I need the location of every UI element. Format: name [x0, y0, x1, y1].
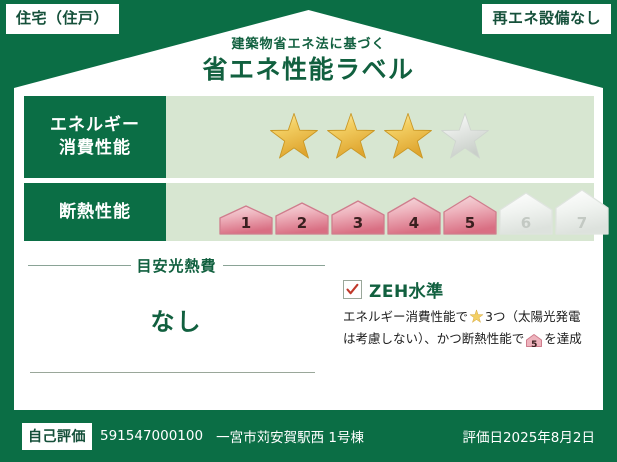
insulation-level-number: 7 [555, 214, 609, 232]
check-icon [346, 283, 359, 296]
label-content: エネルギー 消費性能 断熱性能 1234567 目安光熱費 [24, 96, 594, 397]
insulation-level-6: 6 [499, 192, 553, 235]
energy-performance-label: 住宅（住戸） 再エネ設備なし 建築物省エネ法に基づく 省エネ性能ラベル エネルギ… [0, 0, 617, 462]
energy-performance-value [166, 96, 594, 178]
rule-left [28, 265, 131, 266]
insulation-performance-row: 断熱性能 1234567 [24, 183, 594, 241]
label-heading: 建築物省エネ法に基づく 省エネ性能ラベル [0, 38, 617, 86]
star-filled-icon [469, 309, 484, 324]
energy-performance-label: エネルギー 消費性能 [24, 96, 166, 178]
zeh-checkbox[interactable] [343, 280, 362, 299]
renewable-equipment-tag: 再エネ設備なし [482, 4, 611, 34]
insulation-level-4: 4 [387, 197, 441, 235]
insulation-level-number: 4 [387, 214, 441, 232]
utility-cost-value: なし [24, 302, 329, 337]
zeh-title: ZEH水準 [369, 277, 444, 302]
insulation-level-number: 5 [443, 214, 497, 232]
evaluation-date: 評価日2025年8月2日 [462, 426, 595, 446]
star-empty-icon [437, 109, 493, 165]
utility-cost-title: 目安光熱費 [137, 255, 217, 276]
insulation-performance-label-text: 断熱性能 [59, 201, 131, 224]
inline-star-icon [469, 312, 484, 327]
utility-cost-divider [30, 372, 315, 373]
energy-performance-row: エネルギー 消費性能 [24, 96, 594, 178]
rule-right [223, 265, 326, 266]
property-address: 一宮市苅安賀駅西 1号棟 [216, 426, 364, 446]
insulation-level-scale: 1234567 [219, 189, 609, 235]
energy-performance-label-line1: エネルギー [50, 114, 140, 137]
heading-subtitle: 建築物省エネ法に基づく [0, 38, 617, 52]
insulation-level-5: 5 [443, 195, 497, 235]
evaluation-type-badge: 自己評価 [22, 423, 92, 450]
insulation-level-number: 6 [499, 214, 553, 232]
page-title: 省エネ性能ラベル [0, 54, 617, 85]
utility-cost-panel: 目安光熱費 なし [24, 247, 329, 397]
star-filled-icon [323, 109, 379, 165]
star-filled-icon [266, 109, 322, 165]
zeh-panel: ZEH水準 エネルギー消費性能で3つ（太陽光発電は考慮しない）、かつ断熱性能で5… [329, 247, 594, 397]
star-filled-icon [380, 109, 436, 165]
zeh-desc-prefix: エネルギー消費性能で [343, 309, 468, 324]
building-type-tag: 住宅（住戸） [6, 4, 119, 34]
insulation-level-number: 3 [331, 214, 385, 232]
insulation-performance-label: 断熱性能 [24, 183, 166, 241]
insulation-level-1: 1 [219, 205, 273, 235]
insulation-level-3: 3 [331, 200, 385, 235]
label-id: 591547000100 [100, 428, 203, 444]
insulation-level-number: 2 [275, 214, 329, 232]
utility-cost-title-row: 目安光熱費 [24, 255, 329, 276]
inline-house-level: 5 [526, 339, 542, 353]
zeh-desc-suffix: を達成 [544, 331, 582, 346]
zeh-header: ZEH水準 [343, 277, 588, 302]
insulation-level-2: 2 [275, 202, 329, 235]
insulation-level-number: 1 [219, 214, 273, 232]
label-footer: 自己評価 591547000100 一宮市苅安賀駅西 1号棟 評価日2025年8… [0, 410, 617, 462]
energy-performance-label-line2: 消費性能 [59, 137, 131, 160]
star-rating [266, 109, 493, 165]
zeh-description: エネルギー消費性能で3つ（太陽光発電は考慮しない）、かつ断熱性能で5を達成 [343, 307, 588, 353]
inline-house-badge: 5 [526, 333, 542, 352]
insulation-performance-value: 1234567 [166, 183, 609, 241]
lower-panels: 目安光熱費 なし ZEH水準 エネルギー消費性能で3つ（太陽光発電は考慮しな [24, 247, 594, 397]
insulation-level-7: 7 [555, 189, 609, 235]
